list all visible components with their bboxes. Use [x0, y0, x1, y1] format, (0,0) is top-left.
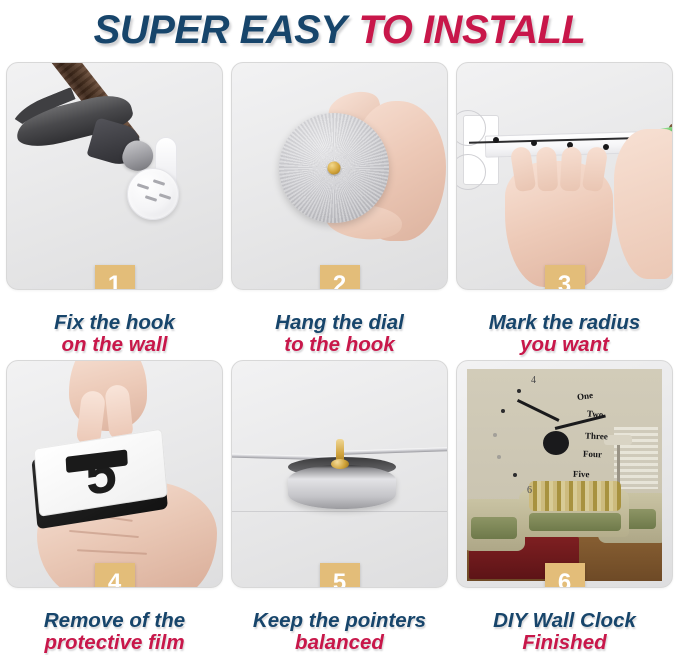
scene-finished-room: 4 6 One Two Three Four Five: [457, 361, 672, 587]
step-6-number-badge: 6: [545, 563, 585, 588]
step-1-caption-line2: on the wall: [54, 334, 175, 356]
step-6-caption-line1: DIY Wall Clock: [493, 610, 636, 632]
wall-hook-disc-icon: [127, 168, 179, 220]
step-1-image-card: 1: [6, 62, 223, 290]
clock-dial-icon: [279, 113, 389, 223]
scene-peel-film-from-digit: 5: [7, 361, 222, 587]
palm-crease-icon: [77, 549, 147, 555]
step-3-number-badge: 3: [545, 265, 585, 290]
step-5-caption-line2: balanced: [253, 632, 426, 654]
measure-dot-icon: [493, 137, 499, 143]
step-3-caption-line2: you want: [489, 334, 641, 356]
clock-word-four: Four: [583, 449, 602, 460]
finger-icon: [560, 147, 582, 192]
sofa-seat-icon: [529, 513, 621, 531]
step-3-caption-line1: Mark the radius: [489, 312, 641, 334]
step-3: 3 Mark the radius you want: [456, 62, 673, 356]
three-d-digit-icon: 5: [31, 429, 168, 524]
step-5: 5 Keep the pointers balanced: [231, 360, 448, 654]
step-3-caption: Mark the radius you want: [489, 312, 641, 356]
clock-marker-dot-icon: [517, 389, 521, 393]
clock-marker-dot-icon: [493, 433, 497, 437]
clock-word-three: Three: [585, 431, 608, 442]
step-5-number-badge: 5: [320, 563, 360, 588]
step-4-caption-line1: Remove of the: [44, 610, 185, 632]
steps-grid: 1 Fix the hook on the wall 2 Hang the di…: [0, 58, 679, 649]
step-1: 1 Fix the hook on the wall: [6, 62, 223, 356]
title-part-to-install: TO INSTALL: [359, 10, 586, 50]
step-6-caption: DIY Wall Clock Finished: [493, 610, 636, 654]
step-6-image-card: 4 6 One Two Three Four Five 6: [456, 360, 673, 588]
measure-dot-icon: [531, 140, 537, 146]
title-part-super-easy: SUPER EASY: [94, 10, 347, 50]
clock-minute-hand-icon: [555, 415, 606, 430]
step-5-caption: Keep the pointers balanced: [253, 610, 426, 654]
scene-clock-movement-pointers: [232, 361, 447, 587]
step-1-number-badge: 1: [95, 265, 135, 290]
step-4: 5 4 Remove of the protective film: [6, 360, 223, 654]
step-6: 4 6 One Two Three Four Five 6 DIY Wall C: [456, 360, 673, 654]
surface-line-icon: [232, 511, 447, 512]
clock-word-five: Five: [573, 469, 590, 480]
step-4-caption: Remove of the protective film: [44, 610, 185, 654]
step-6-caption-line2: Finished: [493, 632, 636, 654]
diy-wall-clock: 4 6 One Two Three Four Five: [491, 375, 637, 511]
scene-hand-holding-dial: [232, 63, 447, 289]
clock-digit-6: 6: [527, 485, 532, 496]
living-room-photo: 4 6 One Two Three Four Five: [467, 369, 662, 581]
clock-marker-dot-icon: [497, 455, 501, 459]
step-2-caption-line2: to the hook: [275, 334, 404, 356]
step-1-caption-line1: Fix the hook: [54, 312, 175, 334]
dial-center-post-icon: [328, 162, 341, 175]
palm-crease-icon: [69, 530, 139, 538]
step-4-number-badge: 4: [95, 563, 135, 588]
armchair-left-seat-icon: [471, 517, 517, 539]
step-5-image-card: 5: [231, 360, 448, 588]
page-title: SUPER EASY TO INSTALL: [0, 0, 679, 58]
step-2-image-card: 2: [231, 62, 448, 290]
clock-digit-4: 4: [531, 375, 536, 386]
clock-marker-dot-icon: [501, 409, 505, 413]
finger-icon: [536, 147, 558, 192]
scene-hammer-and-hook: [7, 63, 222, 289]
step-2-caption-line1: Hang the dial: [275, 312, 404, 334]
step-3-image-card: 3: [456, 62, 673, 290]
step-2: 2 Hang the dial to the hook: [231, 62, 448, 356]
step-2-number-badge: 2: [320, 265, 360, 290]
step-4-image-card: 5 4: [6, 360, 223, 588]
scene-measure-strip-and-pen: [457, 63, 672, 289]
clock-hour-hand-icon: [517, 399, 559, 421]
clock-marker-dot-icon: [513, 473, 517, 477]
pointer-hand-right-icon: [340, 447, 448, 455]
step-4-caption-line2: protective film: [44, 632, 185, 654]
step-1-caption: Fix the hook on the wall: [54, 312, 175, 356]
step-5-caption-line1: Keep the pointers: [253, 610, 426, 632]
right-hand-icon: [614, 129, 673, 279]
clock-hub-icon: [543, 431, 569, 455]
clock-movement-body-icon: [288, 465, 396, 509]
clock-word-one: One: [576, 390, 593, 402]
step-2-caption: Hang the dial to the hook: [275, 312, 404, 356]
